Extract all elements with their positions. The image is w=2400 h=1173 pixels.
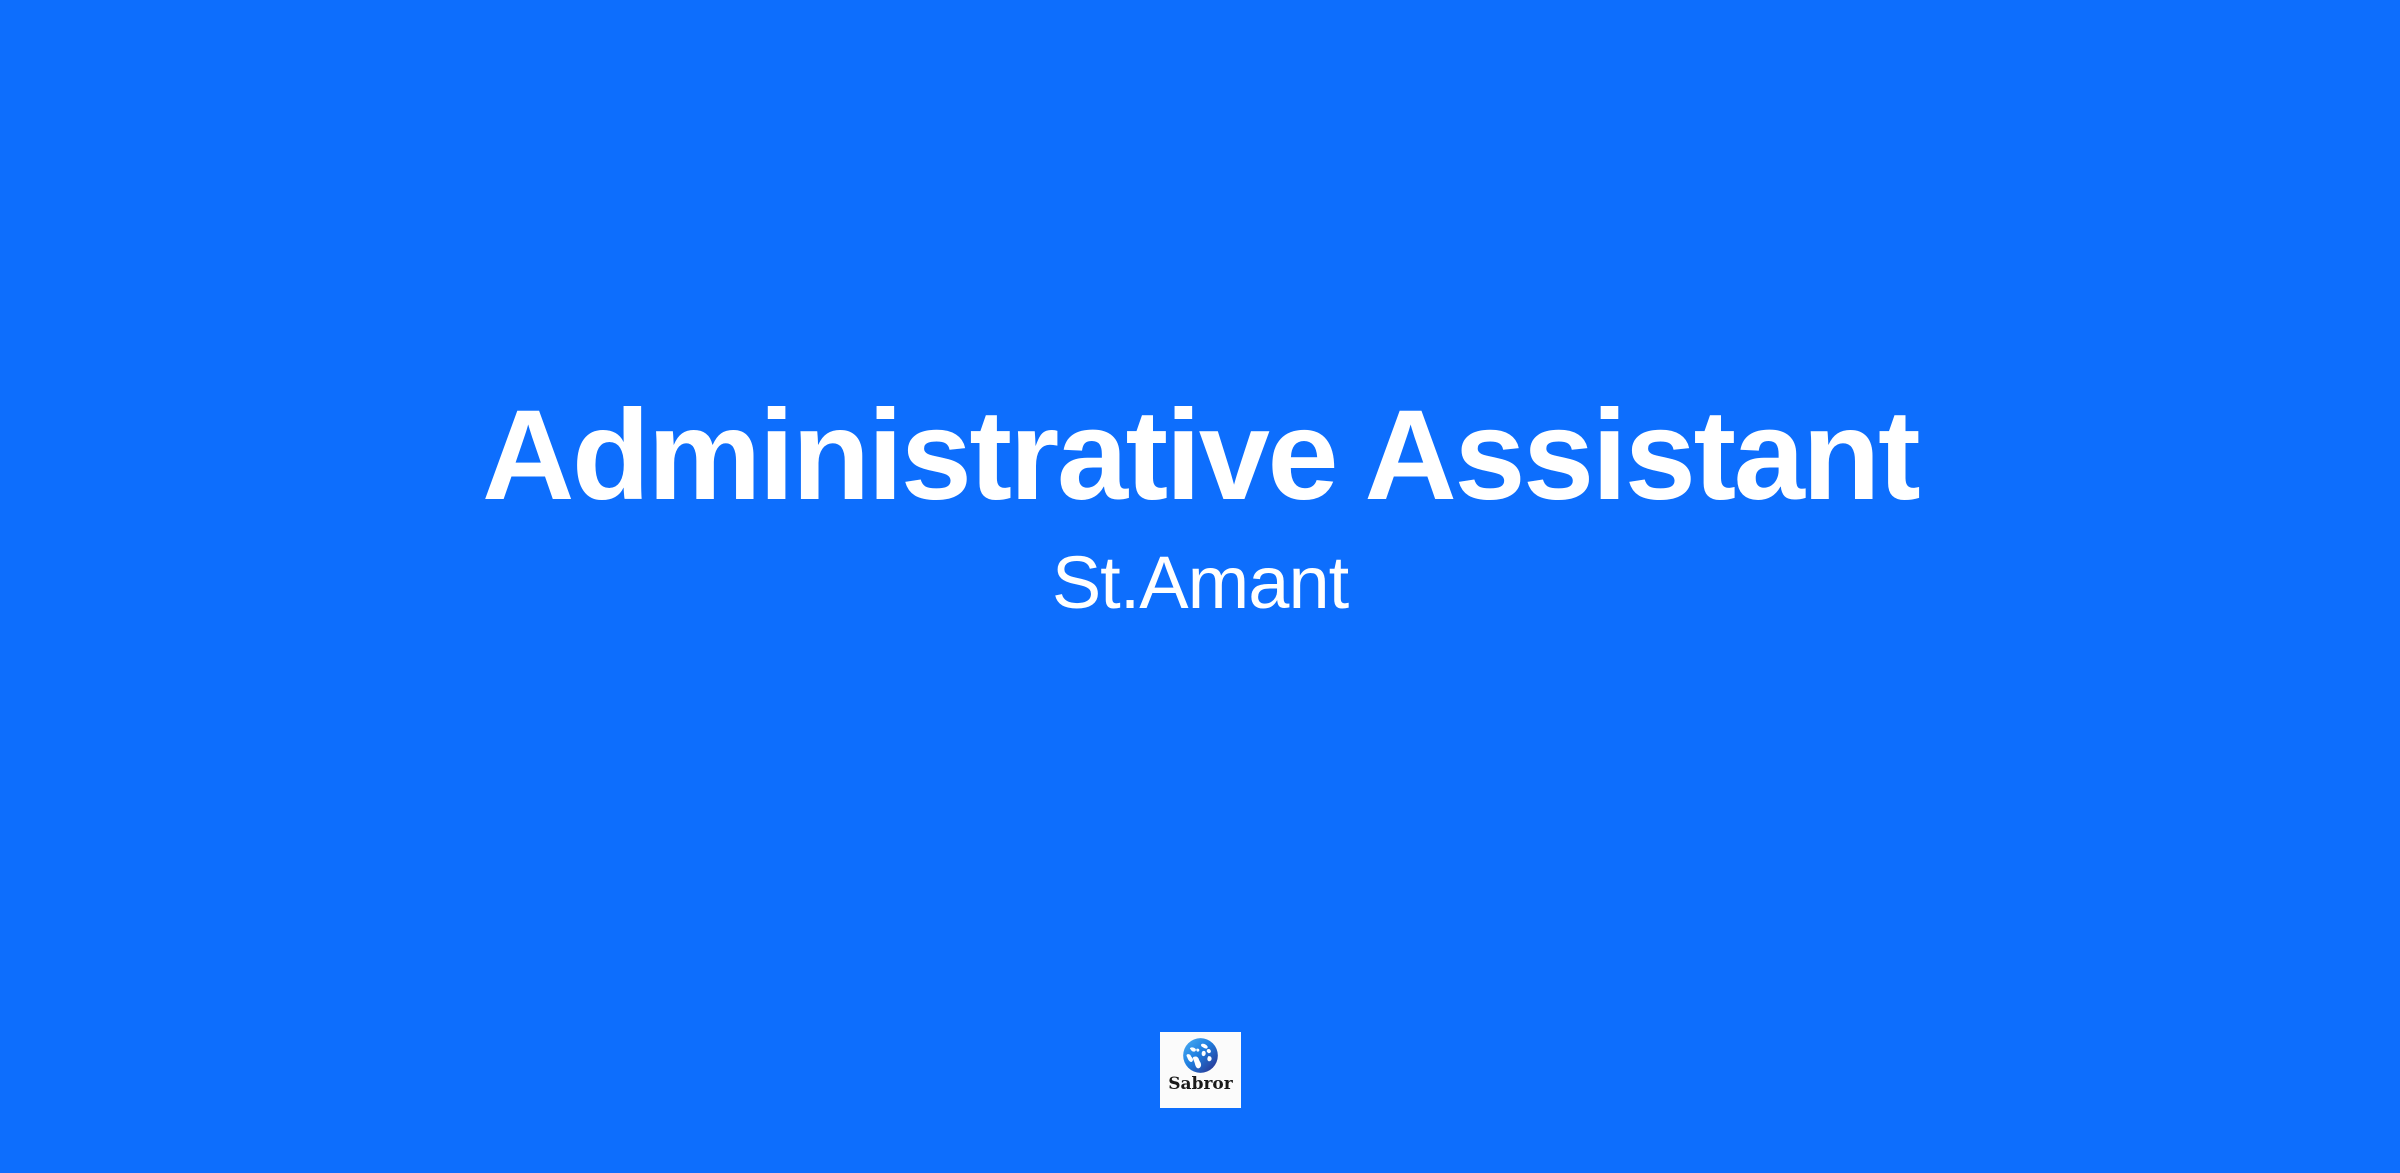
globe-icon: [1182, 1037, 1219, 1074]
brand-name: Sabror: [1168, 1076, 1232, 1093]
hero-section: Administrative Assistant St.Amant: [0, 0, 2400, 1173]
splash-screen: Administrative Assistant St.Amant: [0, 0, 2400, 1173]
page-subtitle: St.Amant: [1052, 546, 1348, 620]
brand-badge: Sabror: [1160, 1032, 1241, 1108]
page-title: Administrative Assistant: [482, 392, 1918, 520]
